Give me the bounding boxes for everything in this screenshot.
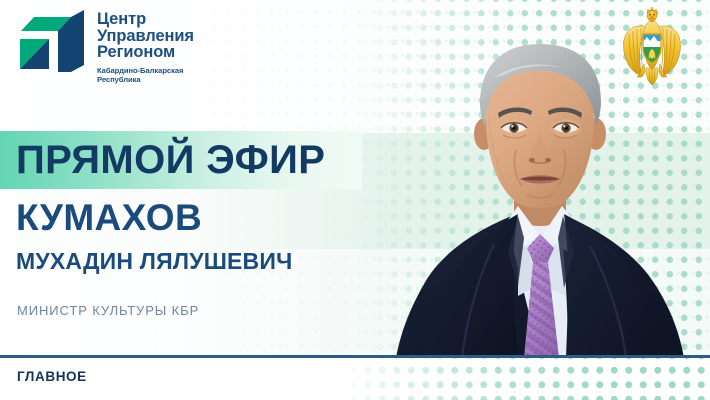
logo-wordmark: Центр Управления Регионом Кабардино-Балк… xyxy=(97,9,194,84)
cur-logo: Центр Управления Регионом Кабардино-Балк… xyxy=(14,9,194,84)
live-broadcast-banner: ПРЯМОЙ ЭФИР xyxy=(0,131,362,189)
footer-dot-pattern xyxy=(340,358,710,400)
broadcast-announcement-card: Центр Управления Регионом Кабардино-Балк… xyxy=(0,0,710,400)
cube-arrow-logo-icon xyxy=(14,9,86,79)
speaker-position: МИНИСТР КУЛЬТУРЫ КБР xyxy=(17,304,199,317)
coat-of-arms xyxy=(618,6,686,86)
footer-label: ГЛАВНОЕ xyxy=(17,370,87,384)
speaker-given-name: МУХАДИН ЛЯЛУШЕВИЧ xyxy=(16,250,292,273)
logo-line-2: Управления xyxy=(97,28,194,45)
footer-divider xyxy=(0,355,710,358)
footer-bar: ГЛАВНОЕ xyxy=(0,358,710,400)
logo-subtitle-1: Кабардино-Балкарская xyxy=(97,66,194,75)
kabardino-balkaria-coat-of-arms-icon xyxy=(618,6,686,86)
logo-line-1: Центр xyxy=(97,11,194,28)
logo-line-3: Регионом xyxy=(97,44,194,61)
speaker-surname: КУМАХОВ xyxy=(16,199,202,236)
live-broadcast-label: ПРЯМОЙ ЭФИР xyxy=(0,140,325,180)
speaker-portrait xyxy=(368,38,710,358)
logo-subtitle-2: Республика xyxy=(97,75,194,84)
